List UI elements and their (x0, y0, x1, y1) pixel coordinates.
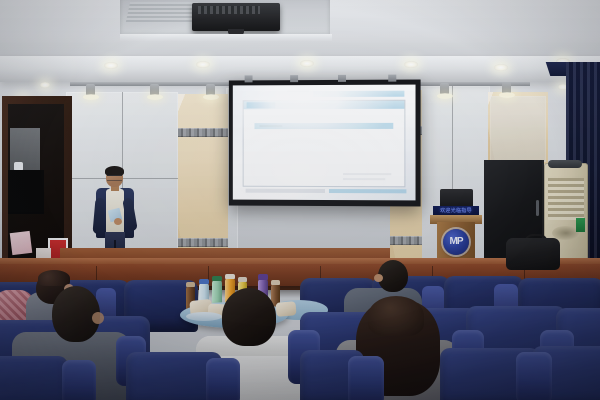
alcove-monitor (8, 170, 44, 214)
slide-title-text (287, 90, 309, 92)
spotlight-glow (83, 94, 99, 100)
ear-icon (374, 274, 383, 282)
slide-footer-bar (329, 189, 406, 193)
slide-document (244, 101, 405, 187)
spotlight-glow (147, 94, 163, 100)
seat-armrest[interactable] (62, 360, 96, 400)
screen-surface (233, 85, 416, 201)
screen-hanger (338, 75, 346, 82)
projector-vent-icon (198, 6, 260, 14)
person-white-hoodie-head (222, 288, 276, 346)
bottle-cap (186, 282, 195, 287)
slide-note-text (343, 173, 392, 176)
bottle-cap (225, 274, 235, 279)
seat-armrest[interactable] (206, 358, 240, 400)
spotlight-glow (437, 93, 453, 99)
curly-hair (38, 270, 70, 286)
bottle-cap (271, 280, 280, 285)
paper-plate (186, 312, 222, 321)
energy-rating-label (576, 218, 585, 232)
auditorium-seat[interactable] (0, 356, 68, 400)
seat-armrest[interactable] (348, 356, 384, 400)
presenter-hand (114, 218, 122, 225)
slide-footer-text (245, 188, 325, 192)
white-wall-panel (490, 96, 546, 162)
bottle-cap (238, 277, 247, 282)
downlight-icon (196, 61, 210, 68)
ceiling-projector (192, 3, 280, 31)
bottle-cap (258, 274, 268, 280)
mosaic-inlay-band (178, 238, 228, 247)
black-duffel-bag[interactable] (506, 238, 560, 270)
ceiling-recess-lip (120, 34, 332, 41)
slide-cell-text (259, 125, 281, 128)
spotlight-glow (499, 92, 515, 98)
slide-note-text (343, 178, 385, 181)
long-hair-crown (368, 296, 424, 336)
institution-logo-text: MP (450, 237, 463, 247)
spotlight-glow (203, 94, 219, 100)
downlight-icon (40, 82, 50, 88)
mosaic-inlay-band (178, 128, 228, 137)
institution-logo: MP (443, 229, 469, 255)
mosaic-inlay-band (390, 236, 422, 245)
screen-hanger (245, 75, 253, 82)
downlight-icon (404, 61, 418, 68)
slide-tab (247, 102, 276, 108)
bottle-cap (199, 279, 209, 284)
ac-hose (548, 160, 582, 168)
bottle-cap (212, 276, 222, 281)
downlight-icon (300, 60, 314, 67)
downlight-icon (494, 64, 508, 71)
paper-sheet (10, 231, 33, 255)
ear-icon (92, 312, 104, 324)
slide-header-bar (313, 90, 405, 96)
snack-packets[interactable] (275, 301, 296, 317)
screen-hanger (388, 75, 396, 82)
air-return-vent-icon (126, 2, 198, 22)
ceiling-soffit (0, 56, 600, 82)
cabinet-handle-icon[interactable] (536, 200, 539, 216)
screen-hanger (290, 75, 298, 82)
seat-armrest[interactable] (516, 352, 552, 400)
projection-screen (229, 80, 421, 207)
auditorium-scene: 欢迎光临指导 MP (0, 0, 600, 400)
downlight-icon (104, 62, 118, 69)
eyeglasses-icon (107, 175, 122, 181)
ac-vent-grille-icon (548, 178, 584, 220)
